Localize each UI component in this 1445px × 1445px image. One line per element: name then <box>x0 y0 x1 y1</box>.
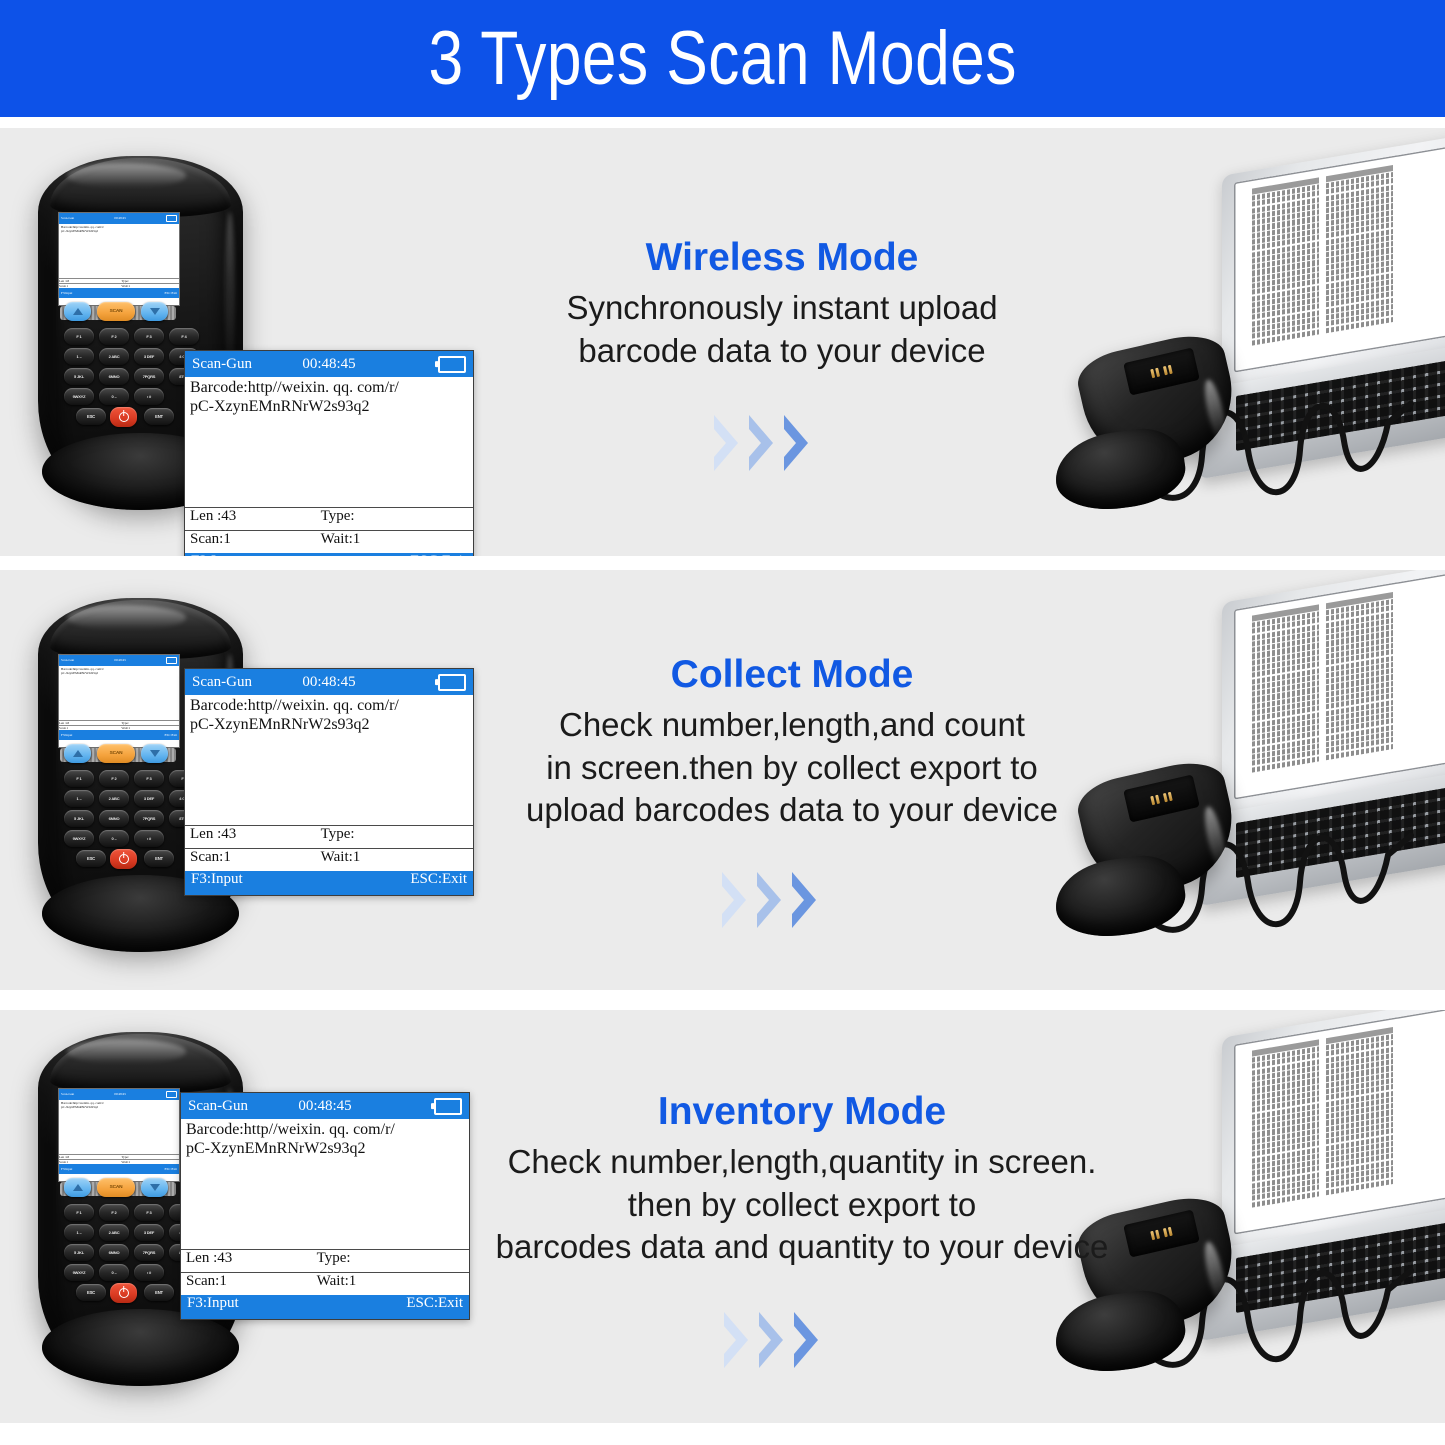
key-f3[interactable]: F 3 <box>134 1204 164 1221</box>
lcd-len-value: Len :43 <box>59 1155 121 1159</box>
lcd-status-bar: Scan-Gun00:48:45 <box>59 213 179 224</box>
page-title: 3 Types Scan Modes <box>428 15 1016 102</box>
popup-battery-wrap <box>438 356 466 373</box>
device-base <box>42 1309 239 1386</box>
device-lcd-screen: Scan-Gun00:48:45Barcode:http//weixin. qq… <box>58 1088 180 1182</box>
lcd-status-bar: Scan-Gun00:48:45 <box>59 1089 179 1100</box>
key-6mno[interactable]: 6MNO <box>99 368 129 385</box>
mode-description-line: then by collect export to <box>462 1184 1142 1227</box>
pin-group <box>1150 367 1160 378</box>
mode-description-line: upload barcodes data to your device <box>472 789 1112 832</box>
key-arrow-up[interactable] <box>64 744 91 763</box>
key-[interactable]: • # <box>134 388 164 405</box>
key-7pqrs[interactable]: 7PQRS <box>134 368 164 385</box>
lcd-status-bar: Scan-Gun00:48:45 <box>59 655 179 666</box>
pin-group <box>1163 1226 1173 1237</box>
mode-description-wireless: Synchronously instant uploadbarcode data… <box>512 287 1052 372</box>
chevron-right-icon-2 <box>747 413 777 473</box>
popup-info-row-len: Len :43Type: <box>185 825 473 848</box>
popup-barcode-line-1: Barcode:http//weixin. qq. com/r/ <box>186 1121 464 1140</box>
lcd-len-value: Len :43 <box>59 279 121 283</box>
chevron-right-icon-1 <box>720 870 750 930</box>
mode-title-wireless: Wireless Mode <box>512 238 1052 279</box>
lcd-content: Barcode:http//weixin. qq. com/r/pC-XzynE… <box>59 1100 179 1154</box>
key-2abc[interactable]: 2 ABC <box>99 1224 129 1241</box>
key-f2[interactable]: F 2 <box>99 770 129 787</box>
page-header: 3 Types Scan Modes <box>0 0 1445 117</box>
key-5jkl[interactable]: 5 JKL <box>64 1244 94 1261</box>
chevron-right-icon-2 <box>755 870 785 930</box>
charging-cradle <box>1055 343 1264 508</box>
key-esc[interactable]: ESC <box>76 408 106 425</box>
spreadsheet-content <box>1252 1027 1393 1210</box>
popup-status-time: 00:48:45 <box>302 674 355 691</box>
lcd-len-value: Len :43 <box>59 721 121 725</box>
key-5jkl[interactable]: 5 JKL <box>64 368 94 385</box>
chevron-right-triple-icon <box>722 1310 822 1370</box>
popup-wait-value: Wait:1 <box>321 849 361 871</box>
lcd-type-value: Type: <box>121 279 128 283</box>
spreadsheet-column <box>1252 605 1319 776</box>
key-ent[interactable]: ENT <box>144 850 174 867</box>
lcd-status-time: 00:48:45 <box>114 1092 126 1096</box>
contact-pin <box>1168 791 1173 800</box>
popup-barcode-line-2: pC-XzynEMnRNrW2s93q2 <box>186 1140 464 1159</box>
popup-status-bar: Scan-Gun00:48:45 <box>185 351 473 377</box>
lcd-battery-icon <box>166 1091 177 1098</box>
popup-barcode-content: Barcode:http//weixin. qq. com/r/pC-XzynE… <box>181 1119 469 1249</box>
popup-status-title: Scan-Gun <box>192 356 252 373</box>
spreadsheet-content <box>1252 165 1393 348</box>
contact-pin <box>1168 1226 1173 1235</box>
chevron-right-icon-1 <box>712 413 742 473</box>
panel-wireless-mode: Scan-Gun00:48:45Barcode:http//weixin. qq… <box>0 128 1445 556</box>
mode-text-block-wireless: Wireless ModeSynchronously instant uploa… <box>512 238 1052 372</box>
lcd-content: Barcode:http//weixin. qq. com/r/pC-XzynE… <box>59 666 179 720</box>
device-top-highlight <box>67 605 186 630</box>
key-2abc[interactable]: 2 ABC <box>99 790 129 807</box>
popup-status-bar: Scan-Gun00:48:45 <box>185 669 473 695</box>
mode-title-inventory: Inventory Mode <box>462 1092 1142 1133</box>
popup-footer-exit: ESC:Exit <box>410 553 467 556</box>
infographic-page: 3 Types Scan Modes Scan-Gun00:48:45Barco… <box>0 0 1445 1445</box>
mode-description-line: barcodes data and quantity to your devic… <box>462 1226 1142 1269</box>
power-icon <box>119 1288 129 1298</box>
popup-footer-exit: ESC:Exit <box>406 1295 463 1319</box>
spreadsheet-column <box>1252 1040 1319 1211</box>
lcd-scan-value: Scan:1 <box>59 284 121 288</box>
chevron-right-icon-3 <box>792 1310 822 1370</box>
key-9wxyz[interactable]: 9WXYZ <box>64 388 94 405</box>
popup-barcode-content: Barcode:http//weixin. qq. com/r/pC-XzynE… <box>185 695 473 825</box>
key-f2[interactable]: F 2 <box>99 328 129 345</box>
popup-len-value: Len :43 <box>190 826 321 848</box>
popup-barcode-content: Barcode:http//weixin. qq. com/r/pC-XzynE… <box>185 377 473 507</box>
lcd-status-title: Scan-Gun <box>61 216 74 220</box>
key-7pqrs[interactable]: 7PQRS <box>134 1244 164 1261</box>
popup-status-time: 00:48:45 <box>302 356 355 373</box>
popup-screen: Scan-Gun00:48:45Barcode:http//weixin. qq… <box>184 668 474 896</box>
mode-description-line: Check number,length,and count <box>472 704 1112 747</box>
mode-description-line: Check number,length,quantity in screen. <box>462 1141 1142 1184</box>
lcd-status-title: Scan-Gun <box>61 658 74 662</box>
lcd-footer-right: ESC:Exit <box>165 733 177 737</box>
lcd-footer-right: ESC:Exit <box>165 1167 177 1171</box>
lcd-scan-value: Scan:1 <box>59 1160 121 1164</box>
arrow-up-icon <box>73 750 83 757</box>
lcd-footer-right: ESC:Exit <box>165 291 177 295</box>
lcd-status-title: Scan-Gun <box>61 1092 74 1096</box>
key-1[interactable]: 1 – <box>64 790 94 807</box>
lcd-footer-left: F3:Input <box>61 733 72 737</box>
cradle-front-lip <box>1050 423 1189 516</box>
popup-footer-bar: F3:InputESC:Exit <box>181 1295 469 1319</box>
key-6mno[interactable]: 6MNO <box>99 810 129 827</box>
key-7pqrs[interactable]: 7PQRS <box>134 810 164 827</box>
lcd-footer-bar: F3:InputESC:Exit <box>59 1164 179 1174</box>
key-power[interactable] <box>110 1283 137 1303</box>
key-scan[interactable]: SCAN <box>97 302 135 321</box>
popup-barcode-line-1: Barcode:http//weixin. qq. com/r/ <box>190 379 468 398</box>
popup-footer-bar: F3:InputESC:Exit <box>185 871 473 895</box>
laptop-screen <box>1234 570 1445 799</box>
popup-footer-input: F3:Input <box>191 553 243 556</box>
popup-scan-value: Scan:1 <box>190 531 321 553</box>
key-f1[interactable]: F 1 <box>64 328 94 345</box>
mode-description-line: Synchronously instant upload <box>512 287 1052 330</box>
key-arrow-down[interactable] <box>141 1178 168 1197</box>
cradle-front-lip <box>1050 850 1189 943</box>
popup-barcode-line-1: Barcode:http//weixin. qq. com/r/ <box>190 697 468 716</box>
power-icon <box>119 412 129 422</box>
key-f1[interactable]: F 1 <box>64 770 94 787</box>
chevron-right-icon-1 <box>722 1310 752 1370</box>
mode-description-inventory: Check number,length,quantity in screen.t… <box>462 1141 1142 1269</box>
lcd-status-time: 00:48:45 <box>114 658 126 662</box>
cradle-front-lip <box>1050 1285 1189 1378</box>
key-ent[interactable]: ENT <box>144 408 174 425</box>
key-9wxyz[interactable]: 9WXYZ <box>64 830 94 847</box>
key-9wxyz[interactable]: 9WXYZ <box>64 1264 94 1281</box>
lcd-wait-value: Wait:1 <box>121 284 130 288</box>
popup-scan-value: Scan:1 <box>190 849 321 871</box>
key-arrow-down[interactable] <box>141 744 168 763</box>
pin-group <box>1163 791 1173 802</box>
arrow-up-icon <box>73 308 83 315</box>
mode-description-collect: Check number,length,and countin screen.t… <box>472 704 1112 832</box>
popup-barcode-line-2: pC-XzynEMnRNrW2s93q2 <box>190 716 468 735</box>
pin-group <box>1150 794 1160 805</box>
key-1[interactable]: 1 – <box>64 348 94 365</box>
popup-footer-bar: F3:InputESC:Exit <box>185 553 473 556</box>
key-[interactable]: • # <box>134 830 164 847</box>
popup-status-title: Scan-Gun <box>188 1098 248 1115</box>
spreadsheet-column <box>1326 1027 1393 1198</box>
popup-battery-wrap <box>434 1098 462 1115</box>
lcd-battery-icon <box>166 657 177 664</box>
arrow-down-icon <box>150 308 160 315</box>
power-icon <box>119 854 129 864</box>
arrow-down-icon <box>150 1184 160 1191</box>
key-arrow-up[interactable] <box>64 302 91 321</box>
lcd-battery-icon <box>166 215 177 222</box>
key-power[interactable] <box>110 849 137 869</box>
lcd-scan-value: Scan:1 <box>59 726 121 730</box>
laptop-screen <box>1234 1010 1445 1234</box>
battery-full-icon <box>438 674 466 691</box>
popup-status-title: Scan-Gun <box>192 674 252 691</box>
lcd-footer-left: F3:Input <box>61 291 72 295</box>
popup-info-row-scan: Scan:1Wait:1 <box>185 530 473 553</box>
lcd-type-value: Type: <box>121 1155 128 1159</box>
key-[interactable]: • # <box>134 1264 164 1281</box>
lcd-footer-bar: F3:InputESC:Exit <box>59 288 179 298</box>
key-0[interactable]: 0 – <box>99 830 129 847</box>
lcd-content-line-2: pC-XzynEMnRNrW2s93q2 <box>61 671 177 675</box>
popup-scan-value: Scan:1 <box>186 1273 317 1295</box>
arrow-down-icon <box>150 750 160 757</box>
key-3def[interactable]: 3 DEF <box>134 1224 164 1241</box>
popup-info-row-scan: Scan:1Wait:1 <box>181 1272 469 1295</box>
key-scan[interactable]: SCAN <box>97 744 135 763</box>
popup-type-value: Type: <box>321 826 355 848</box>
key-ent[interactable]: ENT <box>144 1284 174 1301</box>
popup-wait-value: Wait:1 <box>321 531 361 553</box>
popup-status-time: 00:48:45 <box>298 1098 351 1115</box>
contact-pin <box>1155 367 1160 376</box>
popup-footer-input: F3:Input <box>191 871 243 895</box>
lcd-footer-bar: F3:InputESC:Exit <box>59 730 179 740</box>
mode-text-block-collect: Collect ModeCheck number,length,and coun… <box>472 655 1112 832</box>
laptop-screen <box>1234 131 1445 372</box>
device-lcd-screen: Scan-Gun00:48:45Barcode:http//weixin. qq… <box>58 654 180 748</box>
key-power[interactable] <box>110 407 137 427</box>
key-arrow-up[interactable] <box>64 1178 91 1197</box>
key-0[interactable]: 0 – <box>99 1264 129 1281</box>
lcd-footer-left: F3:Input <box>61 1167 72 1171</box>
popup-footer-exit: ESC:Exit <box>410 871 467 895</box>
key-f2[interactable]: F 2 <box>99 1204 129 1221</box>
device-lcd-screen: Scan-Gun00:48:45Barcode:http//weixin. qq… <box>58 212 180 306</box>
battery-full-icon <box>434 1098 462 1115</box>
spreadsheet-column <box>1252 178 1319 349</box>
popup-barcode-line-2: pC-XzynEMnRNrW2s93q2 <box>190 398 468 417</box>
chevron-right-icon-2 <box>757 1310 787 1370</box>
key-f3[interactable]: F 3 <box>134 770 164 787</box>
pin-group <box>1163 364 1173 375</box>
key-2abc[interactable]: 2 ABC <box>99 348 129 365</box>
lcd-content-line-2: pC-XzynEMnRNrW2s93q2 <box>61 1105 177 1109</box>
lcd-status-time: 00:48:45 <box>114 216 126 220</box>
chevron-right-icon-3 <box>790 870 820 930</box>
key-3def[interactable]: 3 DEF <box>134 348 164 365</box>
chevron-right-triple-icon <box>720 870 820 930</box>
contact-pin <box>1155 794 1160 803</box>
popup-footer-input: F3:Input <box>187 1295 239 1319</box>
popup-type-value: Type: <box>321 508 355 530</box>
lcd-type-value: Type: <box>121 721 128 725</box>
mode-description-line: barcode data to your device <box>512 330 1052 373</box>
popup-info-row-len: Len :43Type: <box>181 1249 469 1272</box>
key-1[interactable]: 1 – <box>64 1224 94 1241</box>
device-top-highlight <box>67 1039 186 1064</box>
key-esc[interactable]: ESC <box>76 850 106 867</box>
pin-group <box>1150 1229 1160 1240</box>
panel-inventory-mode: Scan-Gun00:48:45Barcode:http//weixin. qq… <box>0 1010 1445 1423</box>
popup-wait-value: Wait:1 <box>317 1273 357 1295</box>
key-3def[interactable]: 3 DEF <box>134 790 164 807</box>
popup-len-value: Len :43 <box>186 1250 317 1272</box>
key-esc[interactable]: ESC <box>76 1284 106 1301</box>
mode-description-line: in screen.then by collect export to <box>472 747 1112 790</box>
arrow-up-icon <box>73 1184 83 1191</box>
popup-info-row-len: Len :43Type: <box>185 507 473 530</box>
spreadsheet-column <box>1326 165 1393 336</box>
popup-info-row-scan: Scan:1Wait:1 <box>185 848 473 871</box>
key-6mno[interactable]: 6MNO <box>99 1244 129 1261</box>
battery-full-icon <box>438 356 466 373</box>
key-5jkl[interactable]: 5 JKL <box>64 810 94 827</box>
key-scan[interactable]: SCAN <box>97 1178 135 1197</box>
contact-pin <box>1168 364 1173 373</box>
popup-status-bar: Scan-Gun00:48:45 <box>181 1093 469 1119</box>
mode-text-block-inventory: Inventory ModeCheck number,length,quanti… <box>462 1092 1142 1269</box>
device-top-highlight <box>67 163 186 188</box>
chevron-right-triple-icon <box>712 413 812 473</box>
popup-type-value: Type: <box>317 1250 351 1272</box>
popup-len-value: Len :43 <box>190 508 321 530</box>
spreadsheet-column <box>1326 592 1393 763</box>
contact-pin <box>1155 1229 1160 1238</box>
chevron-right-icon-3 <box>782 413 812 473</box>
key-0[interactable]: 0 – <box>99 388 129 405</box>
key-arrow-down[interactable] <box>141 302 168 321</box>
key-f4[interactable]: F 4 <box>169 328 199 345</box>
popup-screen: Scan-Gun00:48:45Barcode:http//weixin. qq… <box>180 1092 470 1320</box>
key-f3[interactable]: F 3 <box>134 328 164 345</box>
lcd-wait-value: Wait:1 <box>121 1160 130 1164</box>
spreadsheet-content <box>1252 592 1393 775</box>
mode-title-collect: Collect Mode <box>472 655 1112 696</box>
lcd-content-line-2: pC-XzynEMnRNrW2s93q2 <box>61 229 177 233</box>
panel-collect-mode: Scan-Gun00:48:45Barcode:http//weixin. qq… <box>0 570 1445 990</box>
popup-screen: Scan-Gun00:48:45Barcode:http//weixin. qq… <box>184 350 474 556</box>
lcd-wait-value: Wait:1 <box>121 726 130 730</box>
popup-battery-wrap <box>438 674 466 691</box>
key-f1[interactable]: F 1 <box>64 1204 94 1221</box>
lcd-content: Barcode:http//weixin. qq. com/r/pC-XzynE… <box>59 224 179 278</box>
